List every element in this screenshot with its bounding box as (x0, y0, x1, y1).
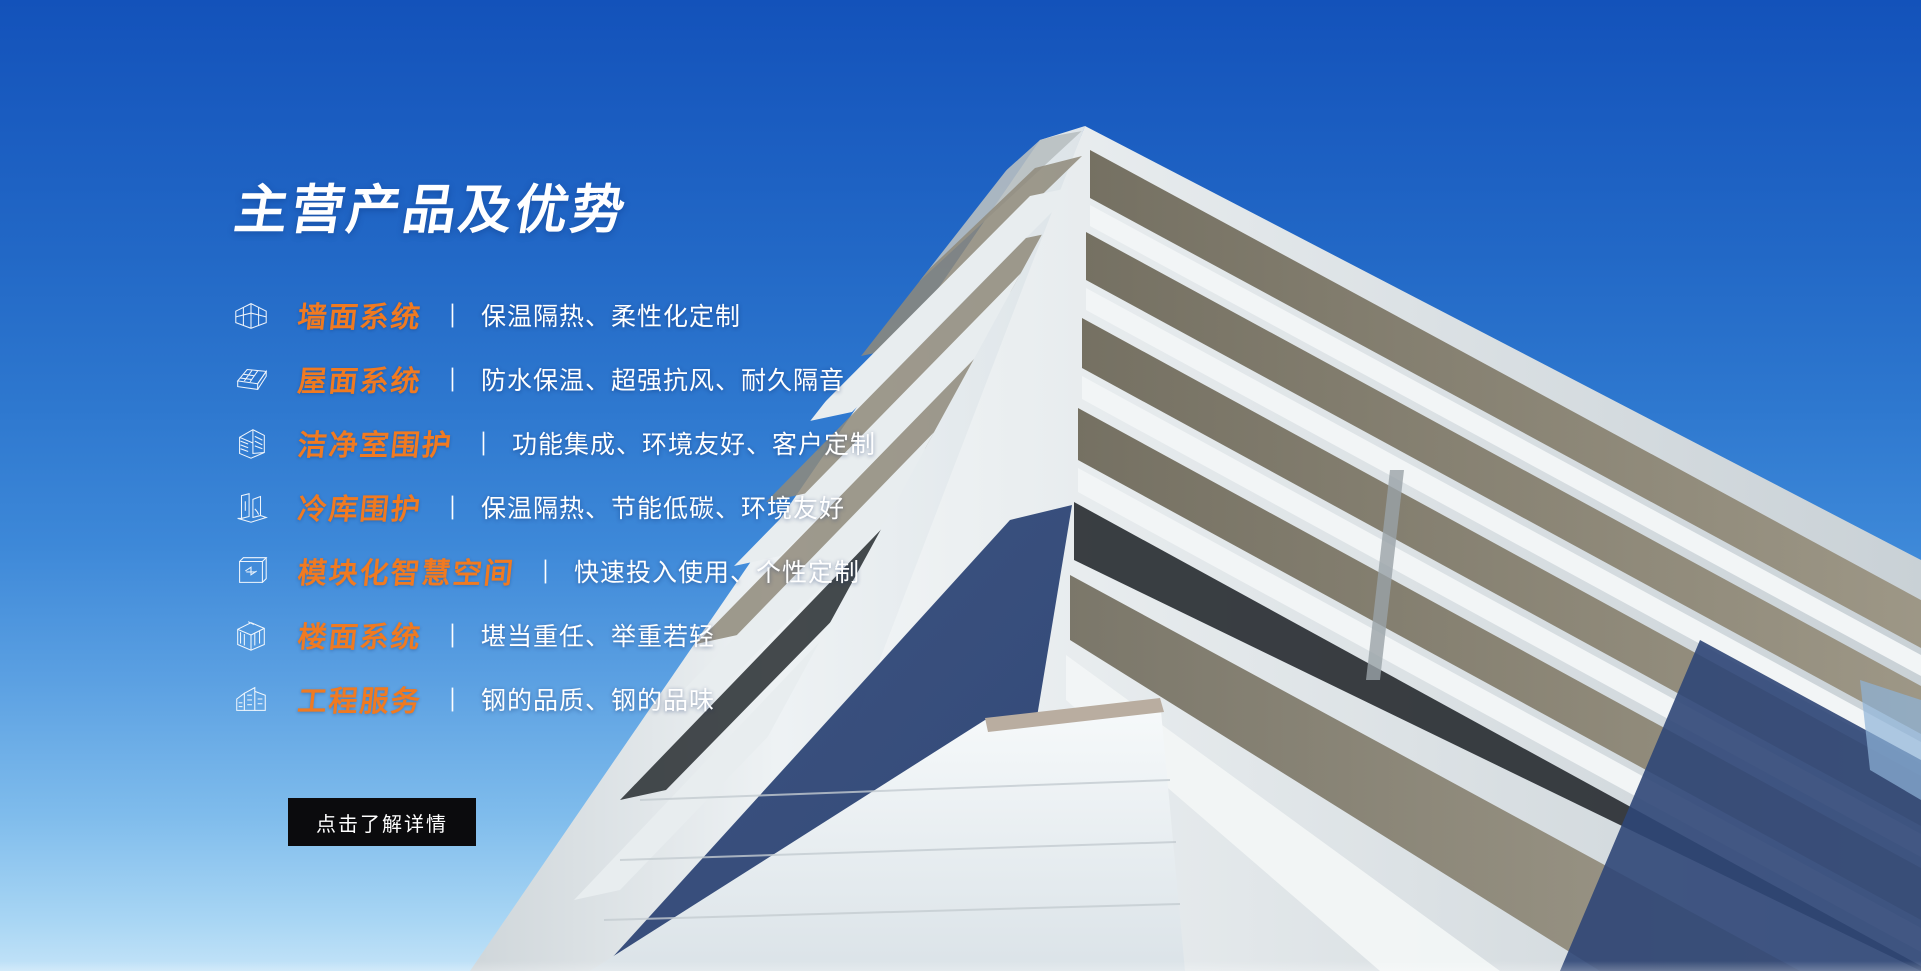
coldstorage-icon (230, 486, 272, 528)
list-item[interactable]: 模块化智慧空间 丨 快速投入使用、个性定制 (230, 548, 876, 594)
learn-more-button[interactable]: 点击了解详情 (288, 798, 476, 846)
separator: 丨 (446, 297, 460, 333)
modular-space-icon (230, 550, 272, 592)
product-desc: 防水保温、超强抗风、耐久隔音 (481, 361, 845, 397)
separator: 丨 (477, 425, 491, 461)
engineering-icon (230, 678, 272, 720)
list-item[interactable]: 工程服务 丨 钢的品质、钢的品味 (230, 676, 876, 722)
product-title: 冷库围护 (296, 486, 424, 528)
content-column: 主营产品及优势 墙面系统 丨 保温隔热、柔性化定制 (0, 0, 960, 971)
product-desc: 堪当重任、举重若轻 (481, 617, 715, 653)
separator: 丨 (446, 681, 460, 717)
product-title: 模块化智慧空间 (296, 550, 517, 592)
product-desc: 保温隔热、节能低碳、环境友好 (481, 489, 845, 525)
list-item[interactable]: 屋面系统 丨 防水保温、超强抗风、耐久隔音 (230, 356, 876, 402)
cleanroom-icon (230, 422, 272, 464)
separator: 丨 (539, 553, 553, 589)
product-title: 墙面系统 (296, 294, 424, 336)
product-title: 工程服务 (296, 678, 424, 720)
product-list: 墙面系统 丨 保温隔热、柔性化定制 屋面系统 丨 防水保温、超强抗 (230, 292, 876, 740)
roof-system-icon (230, 358, 272, 400)
product-title: 洁净室围护 (296, 422, 455, 464)
hero-banner: 主营产品及优势 墙面系统 丨 保温隔热、柔性化定制 (0, 0, 1921, 971)
product-title: 楼面系统 (296, 614, 424, 656)
wall-system-icon (230, 294, 272, 336)
separator: 丨 (446, 489, 460, 525)
product-desc: 快速投入使用、个性定制 (574, 553, 860, 589)
separator: 丨 (446, 361, 460, 397)
separator: 丨 (446, 617, 460, 653)
product-desc: 功能集成、环境友好、客户定制 (512, 425, 876, 461)
product-desc: 钢的品质、钢的品味 (481, 681, 715, 717)
floor-system-icon (230, 614, 272, 656)
product-desc: 保温隔热、柔性化定制 (481, 297, 741, 333)
list-item[interactable]: 冷库围护 丨 保温隔热、节能低碳、环境友好 (230, 484, 876, 530)
product-title: 屋面系统 (296, 358, 424, 400)
list-item[interactable]: 墙面系统 丨 保温隔热、柔性化定制 (230, 292, 876, 338)
list-item[interactable]: 楼面系统 丨 堪当重任、举重若轻 (230, 612, 876, 658)
page-title: 主营产品及优势 (230, 168, 634, 244)
list-item[interactable]: 洁净室围护 丨 功能集成、环境友好、客户定制 (230, 420, 876, 466)
